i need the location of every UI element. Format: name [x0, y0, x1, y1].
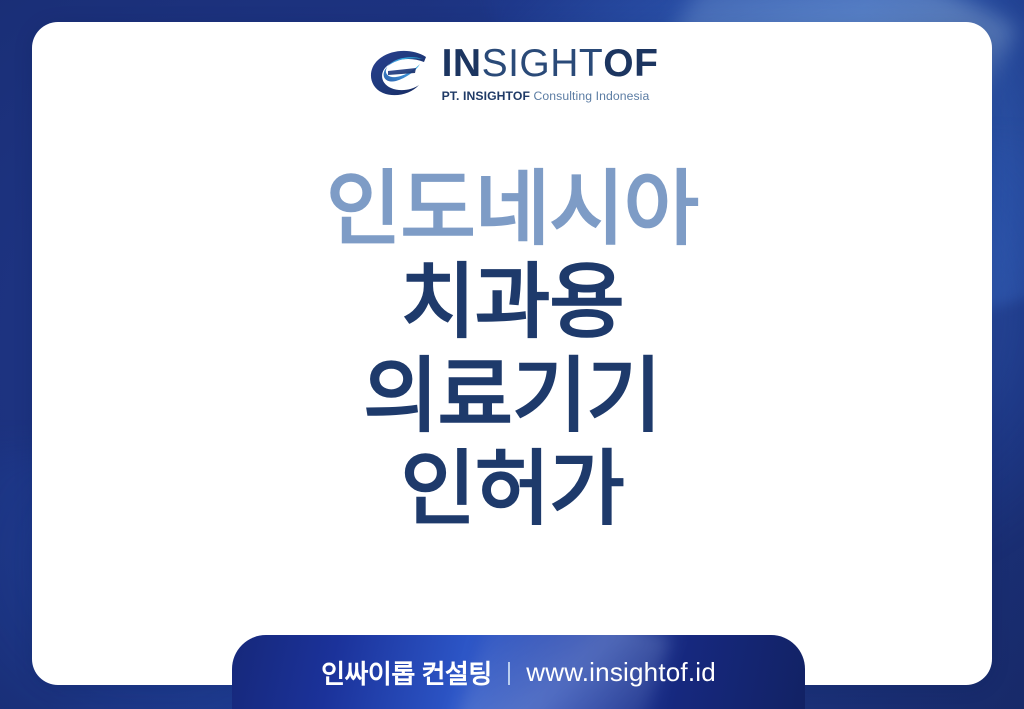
headline-line-1: 인도네시아 [32, 170, 992, 250]
headline-line-3: 의료기기 [32, 357, 992, 437]
footer-separator: | [506, 658, 513, 687]
footer-website-link[interactable]: www.insightof.id [526, 657, 716, 688]
page-title: 인도네시아 치과용 의료기기 인허가 [32, 170, 992, 530]
footer-company-name: 인싸이롭 컨설팅 [321, 654, 492, 691]
poster-canvas: INSIGHTOF PT. INSIGHTOF Consulting Indon… [0, 0, 1024, 709]
tagline-descriptor-text: Consulting Indonesia [534, 89, 650, 103]
content-card: INSIGHTOF PT. INSIGHTOF Consulting Indon… [32, 22, 992, 685]
brand-wordmark: INSIGHTOF [442, 44, 659, 83]
footer-banner: 인싸이롭 컨설팅 | www.insightof.id [232, 635, 805, 709]
brand-tagline: PT. INSIGHTOF Consulting Indonesia [442, 90, 650, 102]
wordmark-sight: SIGHT [482, 42, 604, 85]
headline-line-4: 인허가 [32, 450, 992, 530]
headline-line-2: 치과용 [32, 263, 992, 343]
tagline-company: PT. INSIGHTOF [442, 89, 530, 103]
brand-logo-lockup: INSIGHTOF PT. INSIGHTOF Consulting Indon… [32, 44, 992, 102]
wordmark-of: OF [603, 42, 658, 85]
insightof-swoosh-e-icon [366, 45, 430, 101]
wordmark-in: IN [442, 42, 482, 85]
